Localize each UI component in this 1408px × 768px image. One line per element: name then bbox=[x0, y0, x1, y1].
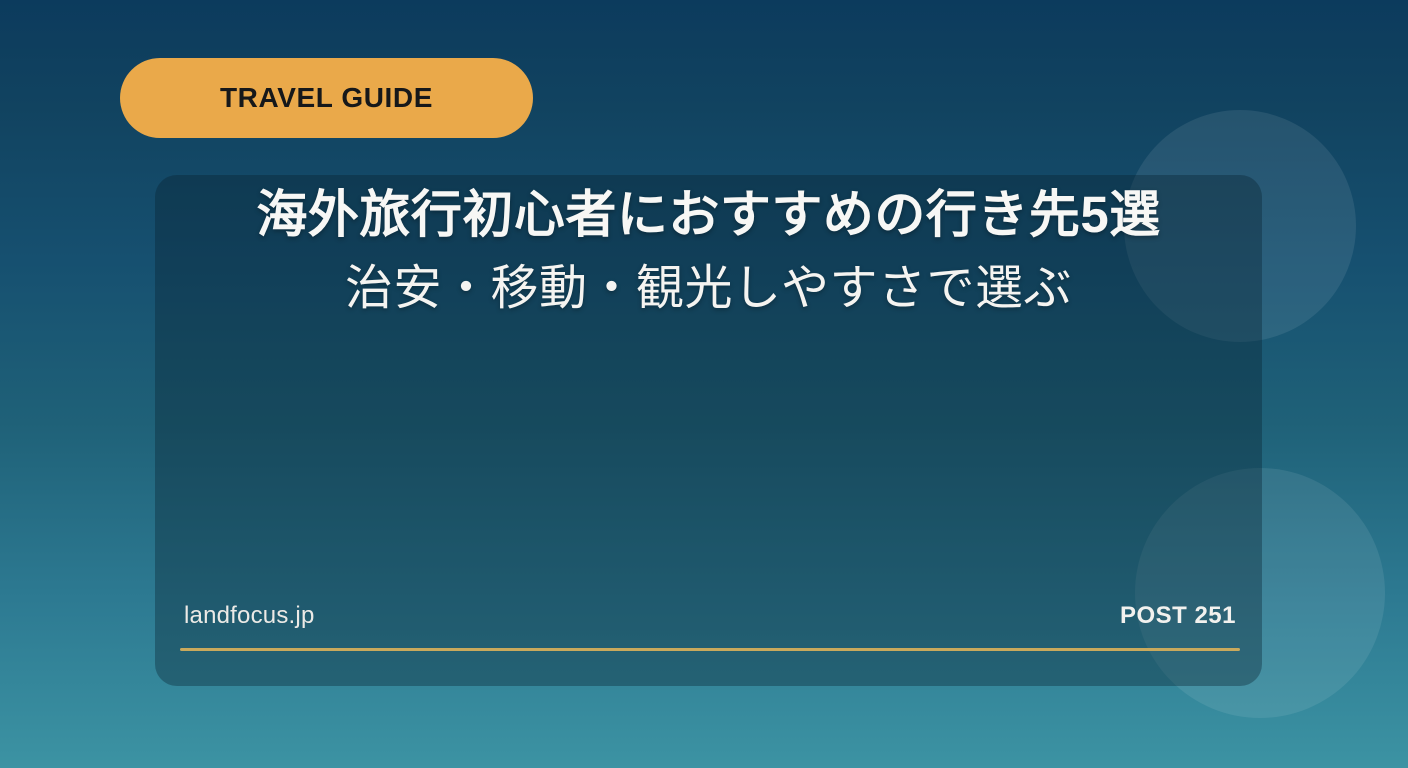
page-subtitle: 治安・移動・観光しやすさで選ぶ bbox=[195, 251, 1222, 322]
post-id: POST 251 bbox=[1120, 604, 1236, 628]
category-badge-label: TRAVEL GUIDE bbox=[220, 84, 433, 112]
site-name: landfocus.jp bbox=[184, 604, 315, 628]
content-card: 海外旅行初心者におすすめの行き先5選 治安・移動・観光しやすさで選ぶ landf… bbox=[155, 175, 1262, 686]
category-badge: TRAVEL GUIDE bbox=[120, 58, 533, 138]
footer-divider bbox=[180, 648, 1240, 651]
social-card-canvas: TRAVEL GUIDE 海外旅行初心者におすすめの行き先5選 治安・移動・観光… bbox=[0, 0, 1408, 768]
footer-row: landfocus.jp POST 251 bbox=[180, 592, 1240, 640]
card-heading-block: 海外旅行初心者におすすめの行き先5選 治安・移動・観光しやすさで選ぶ bbox=[155, 175, 1262, 323]
page-title: 海外旅行初心者におすすめの行き先5選 bbox=[195, 175, 1222, 251]
card-footer: landfocus.jp POST 251 bbox=[180, 592, 1240, 670]
